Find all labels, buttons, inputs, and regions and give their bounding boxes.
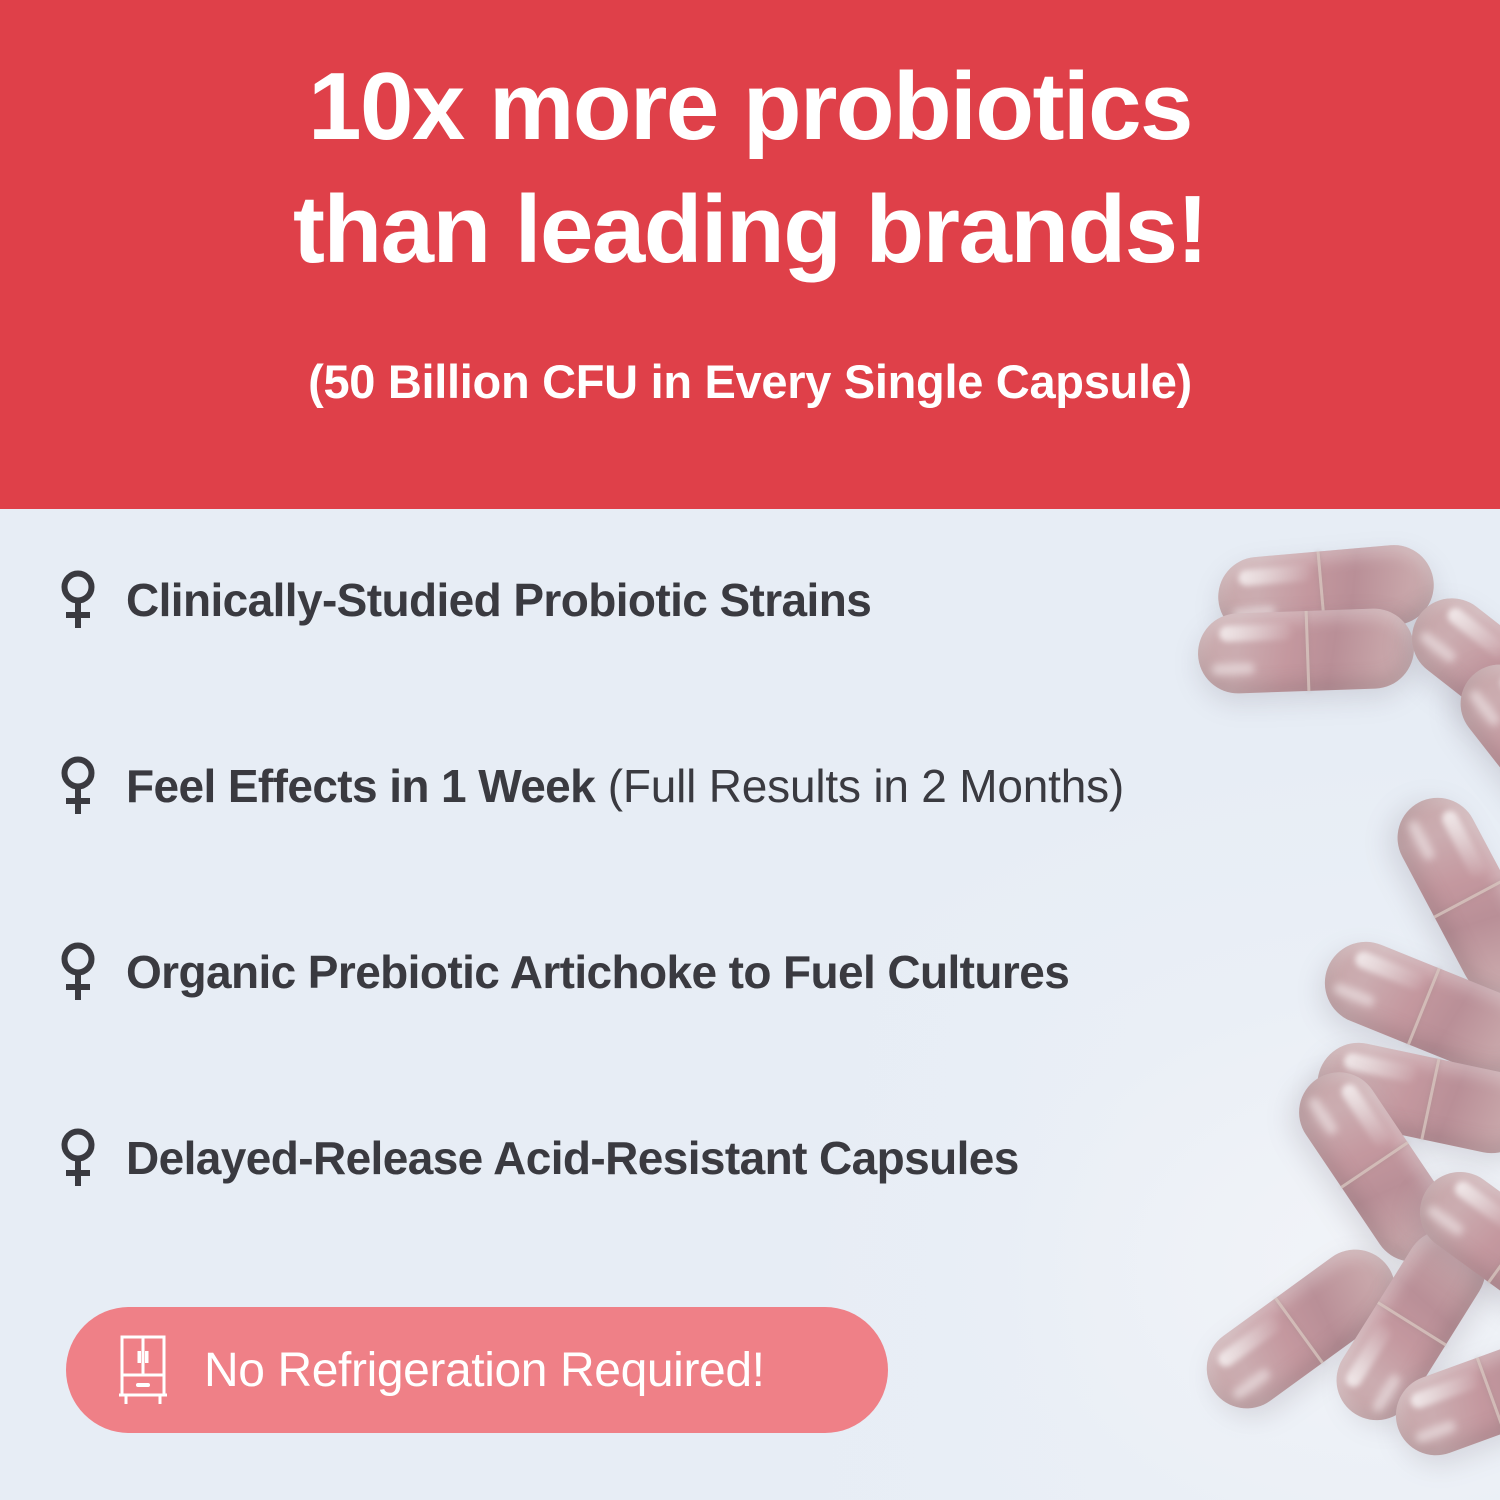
feature-label-bold: Organic Prebiotic Artichoke to Fuel Cult… (126, 946, 1069, 998)
feature-item: Clinically-Studied Probiotic Strains (56, 560, 1236, 640)
headline-line-1: 10x more probiotics (308, 46, 1192, 169)
feature-label: Feel Effects in 1 Week (Full Results in … (126, 759, 1124, 813)
feature-label: Organic Prebiotic Artichoke to Fuel Cult… (126, 945, 1069, 999)
venus-icon (56, 569, 100, 631)
venus-icon (56, 755, 100, 817)
feature-label: Delayed-Release Acid-Resistant Capsules (126, 1131, 1019, 1185)
feature-item: Organic Prebiotic Artichoke to Fuel Cult… (56, 932, 1236, 1012)
feature-item: Delayed-Release Acid-Resistant Capsules (56, 1118, 1236, 1198)
subheadline: (50 Billion CFU in Every Single Capsule) (308, 354, 1192, 409)
venus-icon (56, 1127, 100, 1189)
headline-line-2: than leading brands! (293, 169, 1207, 292)
venus-icon (56, 941, 100, 1003)
feature-item: Feel Effects in 1 Week (Full Results in … (56, 746, 1236, 826)
header-banner: 10x more probiotics than leading brands!… (0, 0, 1500, 509)
feature-list: Clinically-Studied Probiotic Strains Fee… (56, 560, 1236, 1198)
product-infographic: 10x more probiotics than leading brands!… (0, 0, 1500, 1500)
feature-label-bold: Clinically-Studied Probiotic Strains (126, 574, 871, 626)
feature-label-light: (Full Results in 2 Months) (595, 760, 1124, 812)
feature-label: Clinically-Studied Probiotic Strains (126, 573, 871, 627)
no-refrigeration-badge: No Refrigeration Required! (66, 1307, 888, 1433)
badge-label: No Refrigeration Required! (204, 1343, 765, 1398)
feature-label-bold: Delayed-Release Acid-Resistant Capsules (126, 1132, 1019, 1184)
feature-label-bold: Feel Effects in 1 Week (126, 760, 595, 812)
refrigerator-icon (116, 1333, 170, 1407)
